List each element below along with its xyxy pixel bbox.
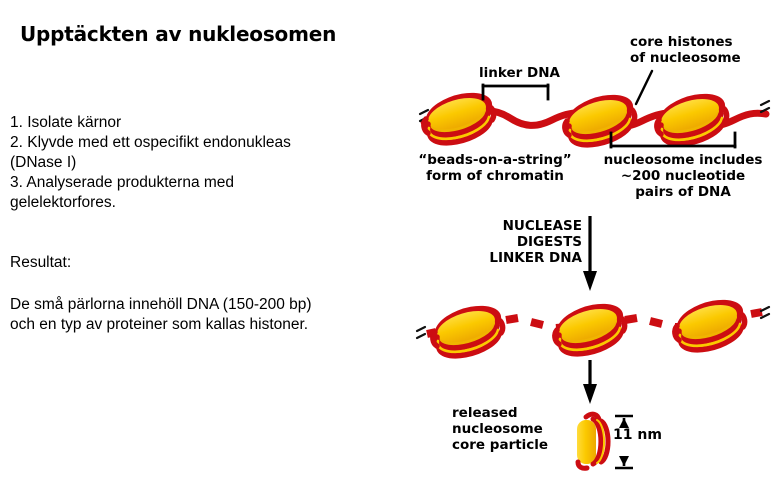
- nucleosome-bead: [565, 94, 635, 145]
- linker-dna-bracket: [483, 85, 548, 99]
- label-linker-dna: linker DNA: [479, 65, 560, 81]
- label-11-nm: 11 nm: [613, 427, 662, 443]
- label-core-histones: core histones of nucleosome: [630, 34, 741, 66]
- nucleosome-bead: [675, 299, 745, 350]
- release-arrow: [583, 360, 597, 404]
- page-title: Upptäckten av nukleosomen: [20, 22, 336, 46]
- result-text: De små pärlorna innehöll DNA (150-200 bp…: [10, 295, 410, 335]
- nucleosome-bead: [433, 305, 503, 356]
- label-nuclease-digests-linker-dna: NUCLEASE DIGESTS LINKER DNA: [485, 218, 582, 266]
- result-label: Resultat:: [10, 253, 71, 273]
- nucleosome-bead: [657, 93, 727, 144]
- label-released-core-particle: released nucleosome core particle: [452, 405, 548, 453]
- dna-end-tick-right: [761, 307, 769, 318]
- chromatin-fiber-top-row: [420, 92, 769, 145]
- procedure-steps-list: 1. Isolate kärnor 2. Klyvde med ett ospe…: [10, 113, 400, 213]
- dna-end-tick-left: [417, 327, 425, 338]
- core-histones-pointer: [636, 71, 652, 104]
- chromatin-fiber-middle-row: [417, 299, 769, 356]
- label-nucleosome-includes: nucleosome includes ~200 nucleotide pair…: [588, 152, 778, 200]
- dna-end-tick-right: [761, 101, 769, 112]
- nucleosome-bead: [555, 303, 625, 354]
- nucleosome-discovery-diagram: linker DNA core histones of nucleosome “…: [400, 0, 784, 494]
- nuclease-digest-arrow: [583, 216, 597, 291]
- label-beads-on-a-string: “beads-on-a-string” form of chromatin: [405, 152, 585, 184]
- released-core-particle: [577, 414, 608, 468]
